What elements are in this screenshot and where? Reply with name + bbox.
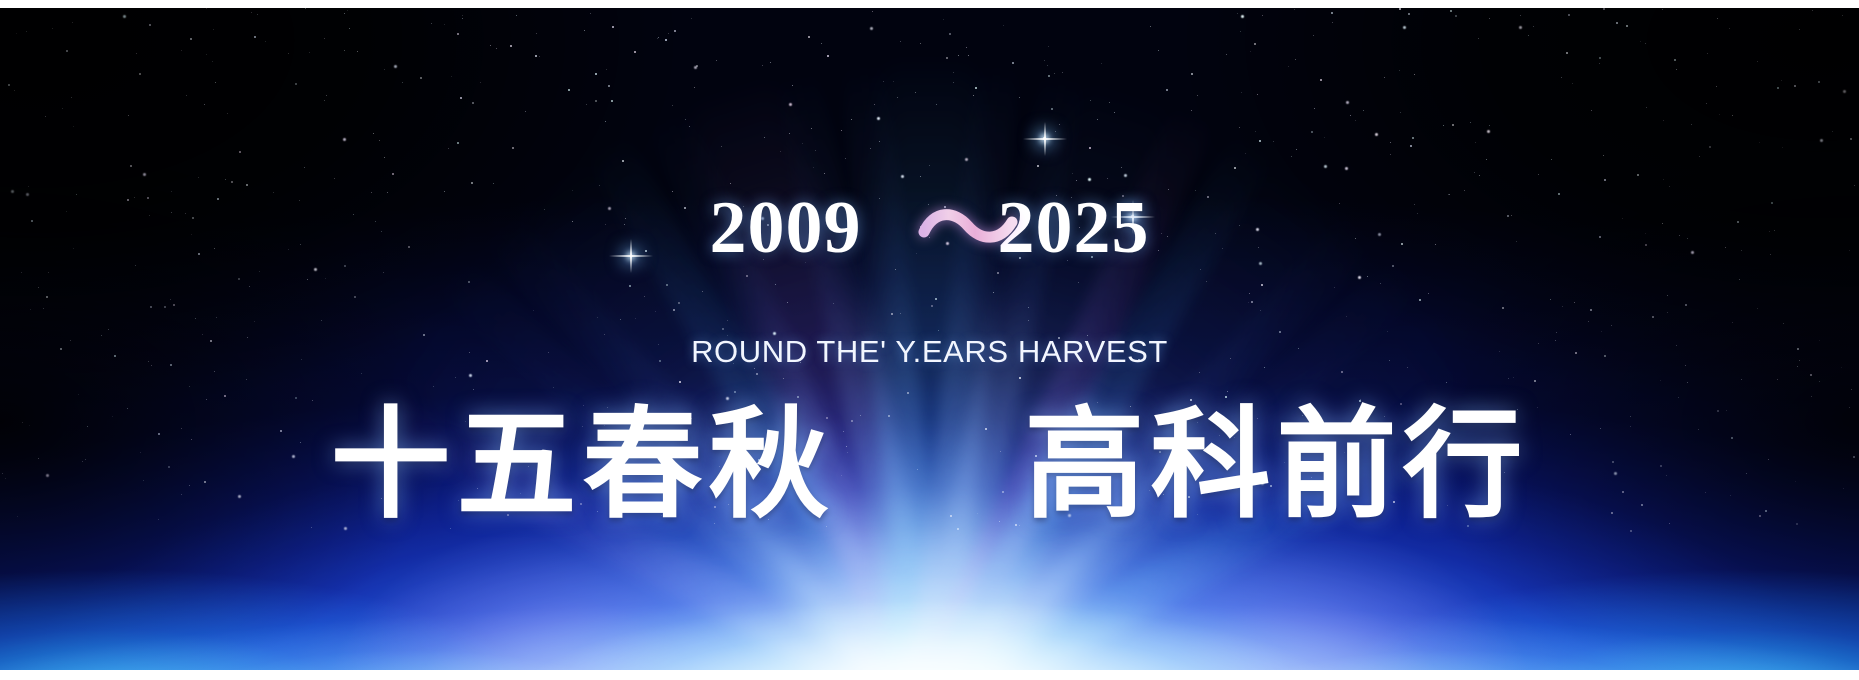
- background-blue-haze: [0, 0, 1859, 680]
- banner-content: 2009 2025 ROUND THE' Y.EARS HA: [0, 0, 1859, 680]
- light-ray: [890, 151, 1352, 680]
- background-violet-arcs: [0, 0, 1859, 680]
- light-ray: [682, 71, 976, 680]
- bottom-trim-strip: [0, 670, 1859, 680]
- light-ray: [881, 54, 978, 680]
- light-ray: [907, 56, 1020, 680]
- year-start: 2009: [710, 191, 862, 265]
- subtitle-text: ROUND THE' Y.EARS HARVEST: [691, 334, 1168, 370]
- year-end: 2025: [998, 191, 1150, 265]
- four-point-sparkle-icon: [1131, 215, 1134, 218]
- light-ray: [772, 64, 951, 680]
- light-ray: [367, 293, 957, 680]
- light-ray: [915, 254, 1430, 680]
- background-corner-vignette: [0, 0, 1859, 680]
- light-ray: [909, 102, 1215, 680]
- year-range: 2009 2025: [710, 191, 1150, 265]
- headline-left-phrase: 十五春秋: [331, 406, 835, 526]
- light-ray: [884, 71, 1178, 680]
- light-ray: [913, 207, 1383, 680]
- light-ray: [584, 131, 949, 680]
- wave-tilde-icon: [918, 200, 1018, 256]
- light-ray: [429, 254, 944, 680]
- headline: 十五春秋 高科前行: [331, 406, 1529, 526]
- light-ray: [839, 56, 952, 680]
- star-field: [0, 0, 1859, 680]
- light-ray: [908, 64, 1087, 680]
- light-ray: [343, 381, 940, 680]
- background-core-glow: [0, 0, 1859, 680]
- top-trim-strip: [0, 0, 1859, 8]
- light-ray: [476, 207, 946, 680]
- four-point-sparkle-icon: [630, 255, 632, 257]
- light-ray: [507, 151, 969, 680]
- light-ray: [644, 102, 950, 680]
- light-ray: [902, 293, 1492, 680]
- four-point-sparkle-icon: [1043, 137, 1046, 140]
- headline-right-phrase: 高科前行: [1025, 406, 1529, 526]
- background-base-gradient: [0, 0, 1859, 680]
- light-rays: [0, 0, 1859, 680]
- light-ray: [910, 131, 1275, 680]
- background-cyan-wedges: [0, 0, 1859, 680]
- light-ray: [919, 381, 1516, 680]
- anniversary-banner: 2009 2025 ROUND THE' Y.EARS HA: [0, 0, 1859, 680]
